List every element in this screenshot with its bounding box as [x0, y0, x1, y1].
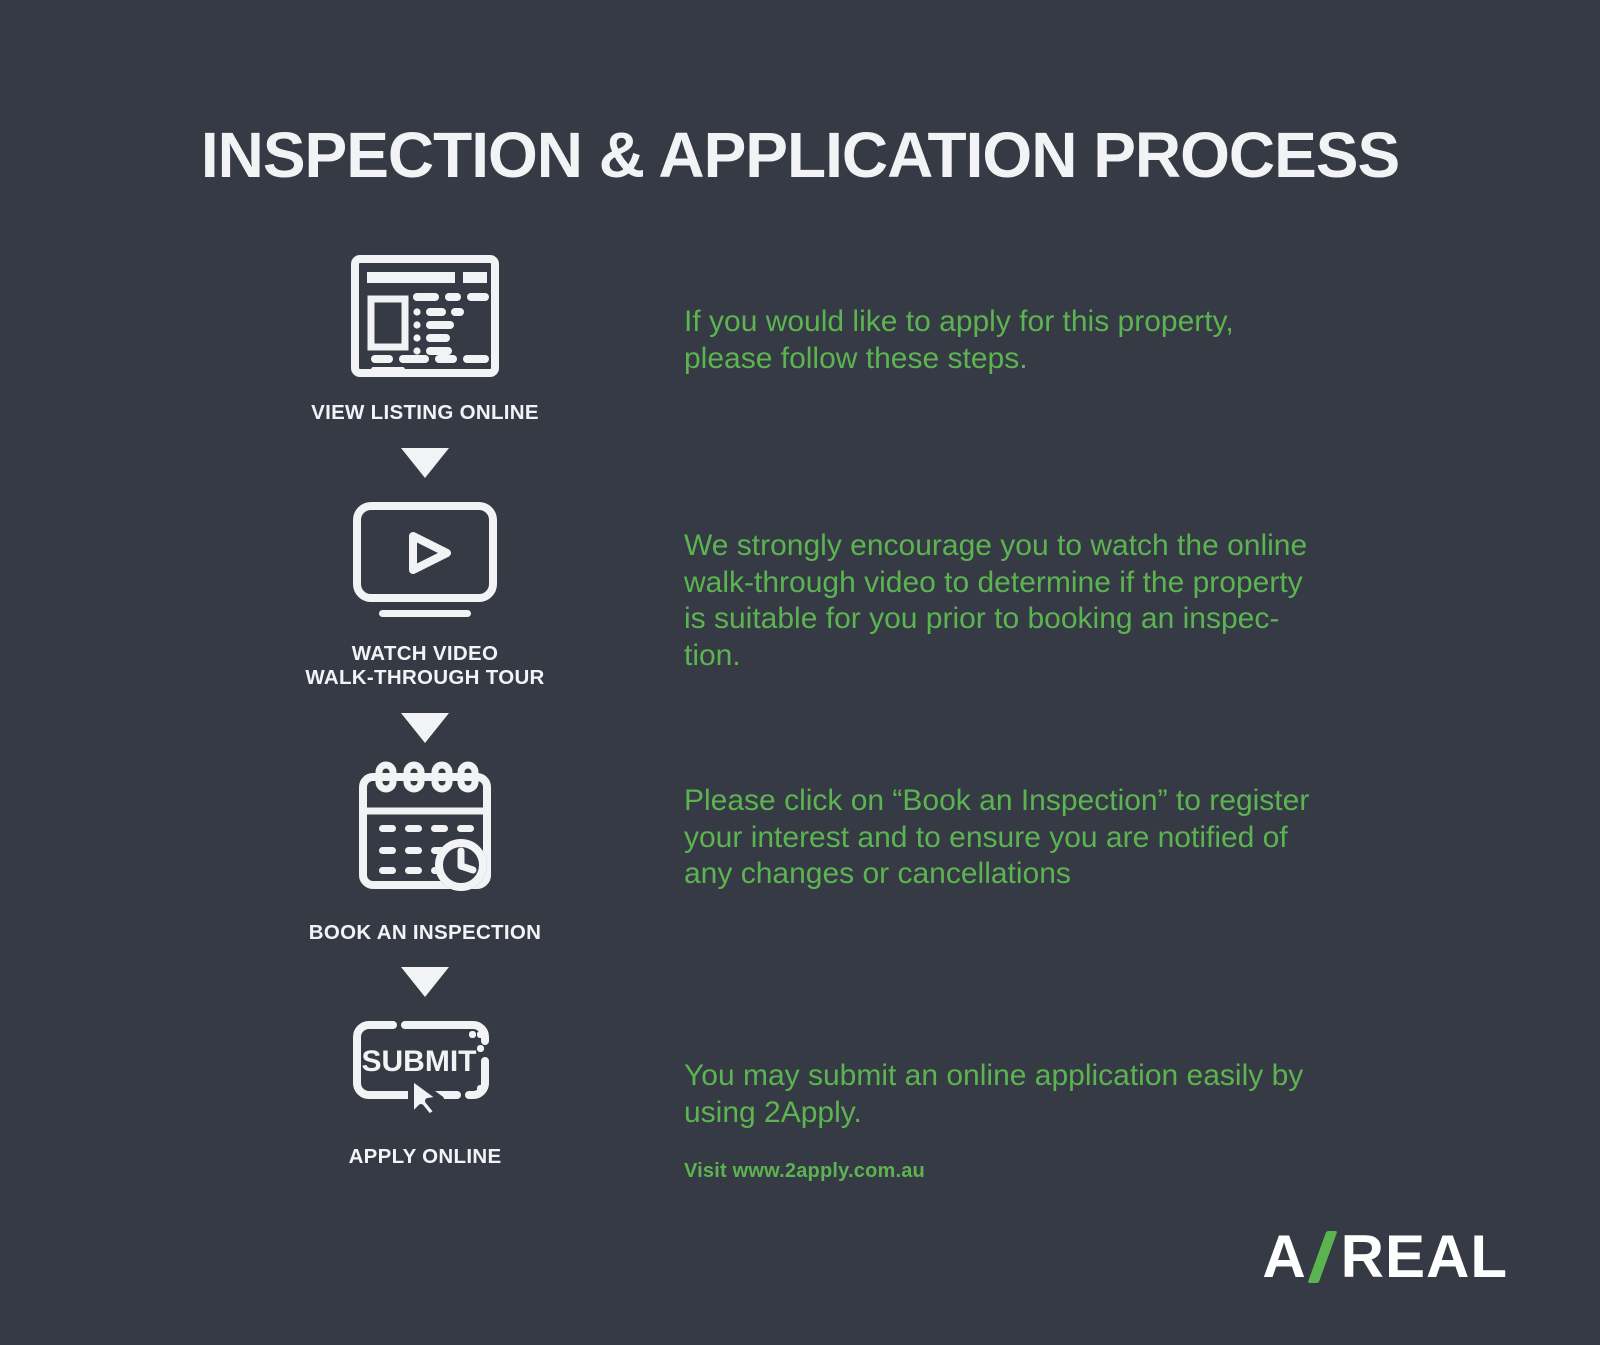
logo-text-left: A — [1262, 1222, 1306, 1291]
copy-block-book-inspection: Please click on “Book an Inspection” to … — [684, 783, 1414, 893]
calendar-clock-icon — [355, 761, 495, 893]
flow-arrow-3 — [280, 967, 570, 997]
logo-slash-icon — [1309, 1229, 1339, 1285]
process-flow: VIEW LISTING ONLINE WATCH VIDEO WALK-THR… — [280, 255, 570, 1170]
flow-arrow-2 — [280, 713, 570, 743]
step-label-book-inspection: BOOK AN INSPECTION — [309, 921, 541, 946]
submit-button-cursor-icon: SUBMIT — [349, 1017, 501, 1117]
video-play-monitor-icon — [351, 500, 499, 620]
page-title: INSPECTION & APPLICATION PROCESS — [0, 118, 1600, 192]
step-book-inspection[interactable]: BOOK AN INSPECTION — [280, 761, 570, 946]
step-label-view-listing-online: VIEW LISTING ONLINE — [311, 401, 539, 426]
step-watch-video[interactable]: WATCH VIDEO WALK-THROUGH TOUR — [280, 500, 570, 691]
step-view-listing-online[interactable]: VIEW LISTING ONLINE — [280, 255, 570, 426]
logo-text-right: REAL — [1341, 1222, 1508, 1291]
copy-block-apply-online: You may submit an online application eas… — [684, 1058, 1414, 1131]
step-label-apply-online: APPLY ONLINE — [349, 1145, 502, 1170]
step-apply-online[interactable]: SUBMIT APPLY ONLINE — [280, 1017, 570, 1170]
submit-icon-text: SUBMIT — [362, 1045, 477, 1078]
brand-logo: A REAL — [1262, 1222, 1508, 1291]
infographic-page: INSPECTION & APPLICATION PROCESS — [0, 0, 1600, 1345]
flow-arrow-1 — [280, 448, 570, 478]
copy-block-watch-video: We strongly encourage you to watch the o… — [684, 528, 1414, 674]
copy-block-apply-intro: If you would like to apply for this prop… — [684, 304, 1414, 377]
visit-url-text[interactable]: Visit www.2apply.com.au — [684, 1160, 925, 1183]
step-label-watch-video: WATCH VIDEO WALK-THROUGH TOUR — [305, 642, 544, 691]
browser-listing-icon — [351, 255, 499, 377]
